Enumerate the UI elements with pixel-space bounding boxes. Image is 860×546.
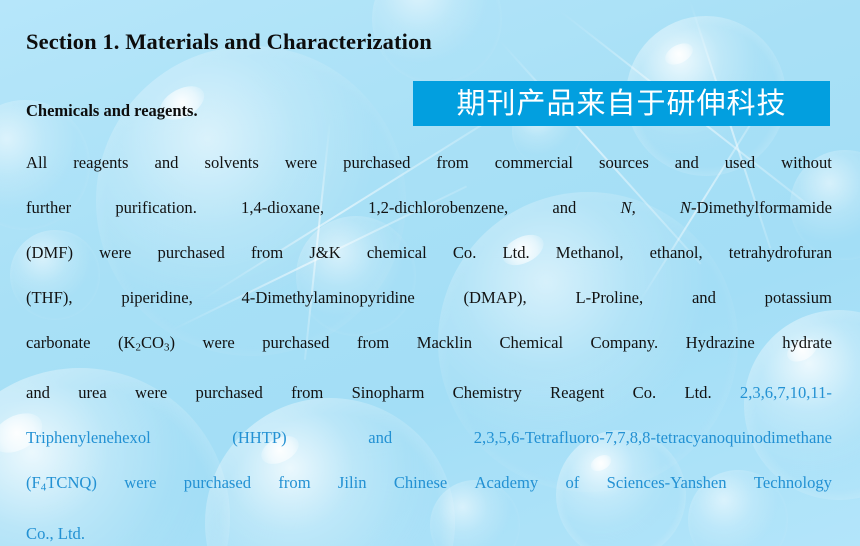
word: and (368, 415, 392, 460)
word: (K2CO3) (118, 320, 175, 370)
word: Technology (754, 460, 832, 510)
word: and (675, 140, 699, 185)
watermark-banner: 期刊产品来自于研伸科技 (413, 81, 830, 126)
word-italic: N, (621, 185, 636, 230)
paragraph-line: Triphenylenehexol(HHTP)and2,3,5,6-Tetraf… (26, 415, 832, 460)
word: potassium (765, 275, 832, 320)
word: from (357, 320, 389, 370)
word: and (26, 370, 50, 415)
word: Methanol, (556, 230, 624, 275)
word: Academy (475, 460, 539, 510)
word: chemical (367, 230, 427, 275)
word: Sinopharm (352, 370, 425, 415)
word: 2,3,5,6-Tetrafluoro-7,7,8,8-tetracyanoqu… (474, 415, 832, 460)
paragraph-line: andureawerepurchasedfromSinopharmChemist… (26, 370, 832, 415)
word: of (565, 460, 579, 510)
paragraph-line: (DMF) were purchased from J&K chemical C… (26, 230, 832, 275)
word: piperidine, (121, 275, 192, 320)
word: (HHTP) (232, 415, 286, 460)
word: purchased (196, 370, 263, 415)
word: without (781, 140, 832, 185)
word: 1,4-dioxane, (241, 185, 324, 230)
word: 2,3,6,7,10,11- (740, 370, 832, 415)
word: Ltd. (502, 230, 529, 275)
word: Sciences-Yanshen (607, 460, 727, 510)
word: Ltd. (684, 370, 711, 415)
word: Chinese (394, 460, 447, 510)
word: were (202, 320, 234, 370)
page-title: Section 1. Materials and Characterizatio… (26, 29, 432, 55)
word: further (26, 185, 71, 230)
word: and (692, 275, 716, 320)
italic-n: N (680, 198, 691, 217)
word: used (725, 140, 755, 185)
word: and (155, 140, 179, 185)
word: and (552, 185, 576, 230)
word: from (278, 460, 310, 510)
word: (DMF) (26, 230, 73, 275)
word: N-Dimethylformamide (680, 185, 832, 230)
word: from (436, 140, 468, 185)
paragraph-line: All reagents and solvents were purchased… (26, 140, 832, 185)
word: Co. (453, 230, 477, 275)
word: ethanol, (650, 230, 703, 275)
word: from (251, 230, 283, 275)
word: were (99, 230, 131, 275)
word: J&K (309, 230, 340, 275)
word: 1,2-dichlorobenzene, (368, 185, 508, 230)
word: hydrate (782, 320, 832, 370)
word: Reagent (550, 370, 604, 415)
paragraph-line: further purification. 1,4-dioxane, 1,2-d… (26, 185, 832, 230)
word: solvents (204, 140, 258, 185)
word: urea (78, 370, 107, 415)
word: reagents (73, 140, 128, 185)
word: Chemistry (453, 370, 522, 415)
word: purchased (262, 320, 329, 370)
word: sources (599, 140, 649, 185)
paragraph-line: (F4TCNQ)werepurchasedfromJilinChineseAca… (26, 460, 832, 510)
word: purification. (115, 185, 197, 230)
word: Hydrazine (686, 320, 755, 370)
body-paragraph: All reagents and solvents were purchased… (26, 140, 832, 546)
word: Co., Ltd. (26, 511, 85, 546)
word: Chemical (499, 320, 563, 370)
slide-canvas: Section 1. Materials and Characterizatio… (0, 0, 860, 546)
word: tetrahydrofuran (729, 230, 832, 275)
word: carbonate (26, 320, 91, 370)
word: Jilin (338, 460, 367, 510)
word: 4-Dimethylaminopyridine (242, 275, 415, 320)
word: Macklin (417, 320, 472, 370)
word: purchased (343, 140, 410, 185)
word: purchased (184, 460, 251, 510)
word: L-Proline, (575, 275, 643, 320)
word: All (26, 140, 47, 185)
word: were (124, 460, 156, 510)
word: were (135, 370, 167, 415)
word: were (285, 140, 317, 185)
word: Triphenylenehexol (26, 415, 151, 460)
word: Co. (633, 370, 657, 415)
word: Company. (591, 320, 659, 370)
paragraph-line: Co., Ltd. (26, 511, 832, 546)
paragraph-line: (THF), piperidine, 4-Dimethylaminopyridi… (26, 275, 832, 320)
word-tail: -Dimethylformamide (691, 198, 832, 217)
word: purchased (158, 230, 225, 275)
word: from (291, 370, 323, 415)
paragraph-line: carbonate(K2CO3)werepurchasedfromMacklin… (26, 320, 832, 370)
word: (DMAP), (464, 275, 527, 320)
word: commercial (495, 140, 573, 185)
word: (F4TCNQ) (26, 460, 97, 510)
section-subheading: Chemicals and reagents. (26, 101, 198, 121)
word: (THF), (26, 275, 73, 320)
